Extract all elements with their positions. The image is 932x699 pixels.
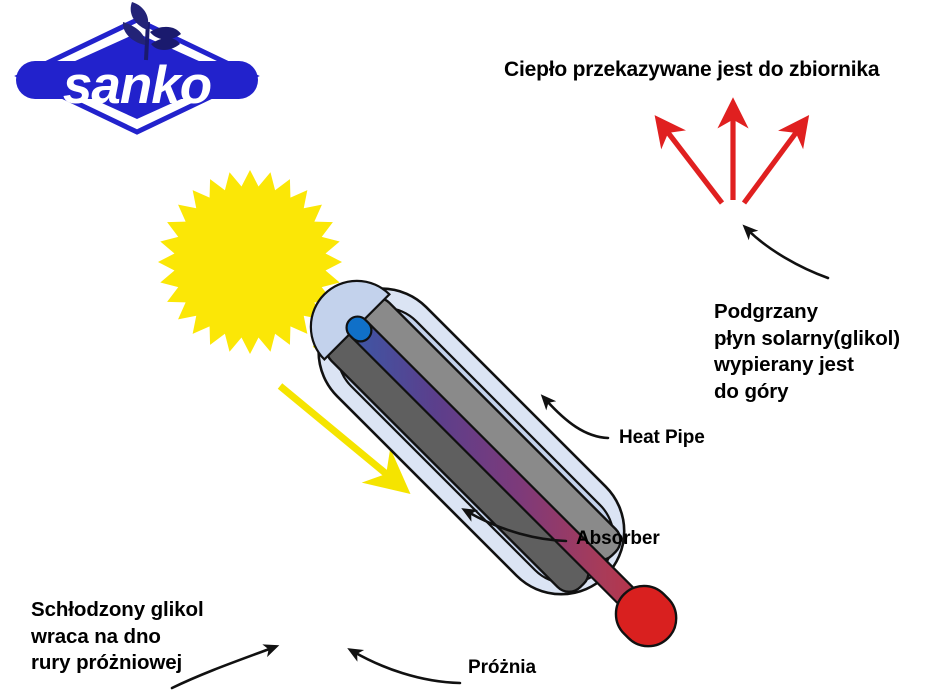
proznia-pointer-arrow xyxy=(354,652,460,683)
heat-arrow-right xyxy=(744,130,798,203)
heat-arrow-left xyxy=(666,130,722,203)
heat-pipe-pointer-arrow xyxy=(546,400,608,438)
logo-wordmark: sanko xyxy=(63,56,211,115)
sun-icon xyxy=(0,170,342,518)
diagram-canvas: sanko xyxy=(0,0,932,699)
heat-pipe-label: Heat Pipe xyxy=(619,427,705,449)
absorber-label: Absorber xyxy=(576,528,660,550)
title-heat-transferred-label: Ciepło przekazywane jest do zbiornika xyxy=(504,58,879,83)
heat-pipe xyxy=(332,302,688,658)
proznia-label: Próżnia xyxy=(468,657,536,679)
heat-output-arrows xyxy=(666,116,798,203)
heat-pipe-shaft xyxy=(344,314,642,612)
podgrzany-plyn-label: Podgrzany płyn solarny(glikol) wypierany… xyxy=(714,299,900,406)
sanko-logo: sanko xyxy=(16,2,258,132)
schlodzony-glikol-label: Schłodzony glikol wraca na dno rury próż… xyxy=(31,597,204,677)
podgrzany-pointer-arrow xyxy=(748,230,828,278)
